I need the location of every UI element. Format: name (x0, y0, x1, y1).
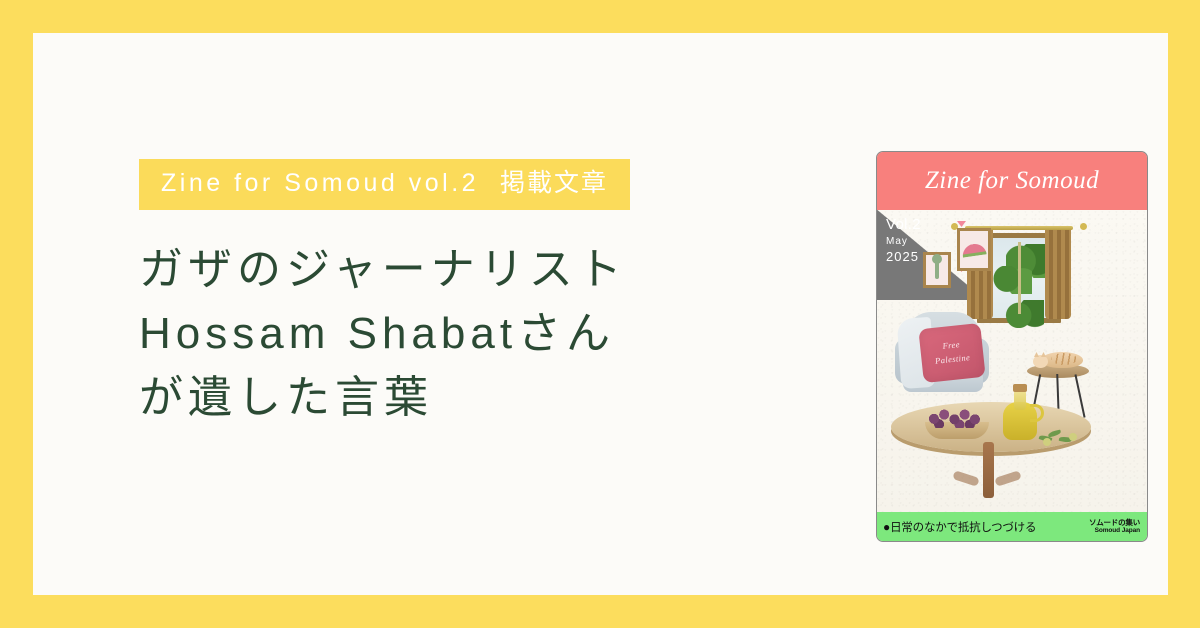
olive-sprig-icon (1039, 430, 1083, 446)
framed-spoon-picture (923, 252, 951, 288)
armchair-illustration: Free Palestine (895, 312, 989, 396)
zine-cover-title: Zine for Somoud (925, 167, 1099, 195)
publisher-name-en: Somoud Japan (1089, 527, 1140, 535)
zine-cover-illustration: Vol.2 May 2025 (877, 210, 1147, 512)
issue-badge-label-en: Zine for Somoud vol.2 (161, 169, 479, 197)
cushion-text: Free Palestine (920, 335, 985, 370)
table-leg (952, 470, 980, 487)
curtain-rod-knob (1080, 223, 1087, 230)
zine-cover-image: Zine for Somoud Vol.2 May 2025 (876, 151, 1148, 542)
table-leg (994, 470, 1022, 487)
issue-badge: Zine for Somoud vol.2 掲載文章 (139, 159, 630, 210)
zine-cover-header: Zine for Somoud (877, 152, 1147, 210)
volume-corner-text: Vol.2 May 2025 (886, 217, 921, 263)
page-title: ガザのジャーナリスト Hossam Shabatさん が遺した言葉 (139, 238, 759, 429)
grapes-icon (925, 404, 989, 428)
zine-cover-footer: ●日常のなかで抵抗しつづける ソムードの集い Somoud Japan (877, 512, 1147, 541)
olive-leaf (1048, 430, 1062, 438)
cover-tagline-text: 日常のなかで抵抗しつづける (890, 522, 1036, 534)
content-panel: Zine for Somoud vol.2 掲載文章 ガザのジャーナリスト Ho… (33, 33, 1168, 595)
olive-fruit (1043, 438, 1051, 446)
bottle-cork (1013, 384, 1027, 392)
issue-badge-label-jp: 掲載文章 (500, 169, 608, 197)
olive-fruit (1069, 433, 1077, 441)
table-illustration (891, 402, 1091, 512)
foliage-icon (990, 266, 1032, 294)
cat-icon (1033, 350, 1083, 370)
bottle-neck (1014, 390, 1026, 410)
cushion-text-line-1: Free (942, 339, 960, 351)
left-column: Zine for Somoud vol.2 掲載文章 ガザのジャーナリスト Ho… (139, 159, 759, 430)
page-title-line-2: Hossam Shabatさん (139, 302, 759, 366)
spoon-icon (935, 261, 939, 279)
watermelon-icon (961, 243, 986, 258)
free-palestine-cushion: Free Palestine (918, 323, 985, 383)
cover-tagline: ●日常のなかで抵抗しつづける (883, 519, 1036, 535)
foliage-icon (998, 300, 1044, 328)
bullet-icon: ● (883, 520, 890, 534)
table-leg-center (983, 442, 994, 498)
yellow-frame: Zine for Somoud vol.2 掲載文章 ガザのジャーナリスト Ho… (0, 0, 1200, 628)
window-mullion (1018, 242, 1021, 314)
curtain-right (1045, 229, 1071, 319)
volume-number: Vol.2 (886, 217, 921, 232)
page-title-line-3: が遺した言葉 (139, 366, 759, 430)
tassel-icon (957, 221, 966, 227)
publisher-name-jp: ソムードの集い (1089, 518, 1140, 527)
cushion-text-line-2: Palestine (935, 353, 971, 367)
publisher-brand: ソムードの集い Somoud Japan (1089, 518, 1140, 536)
page-title-line-1: ガザのジャーナリスト (139, 238, 759, 302)
volume-month: May (886, 237, 921, 247)
framed-watermelon-picture (957, 228, 991, 271)
volume-year: 2025 (886, 250, 921, 263)
cat-stripes (1051, 353, 1077, 365)
olive-oil-bottle-icon (1003, 384, 1037, 440)
